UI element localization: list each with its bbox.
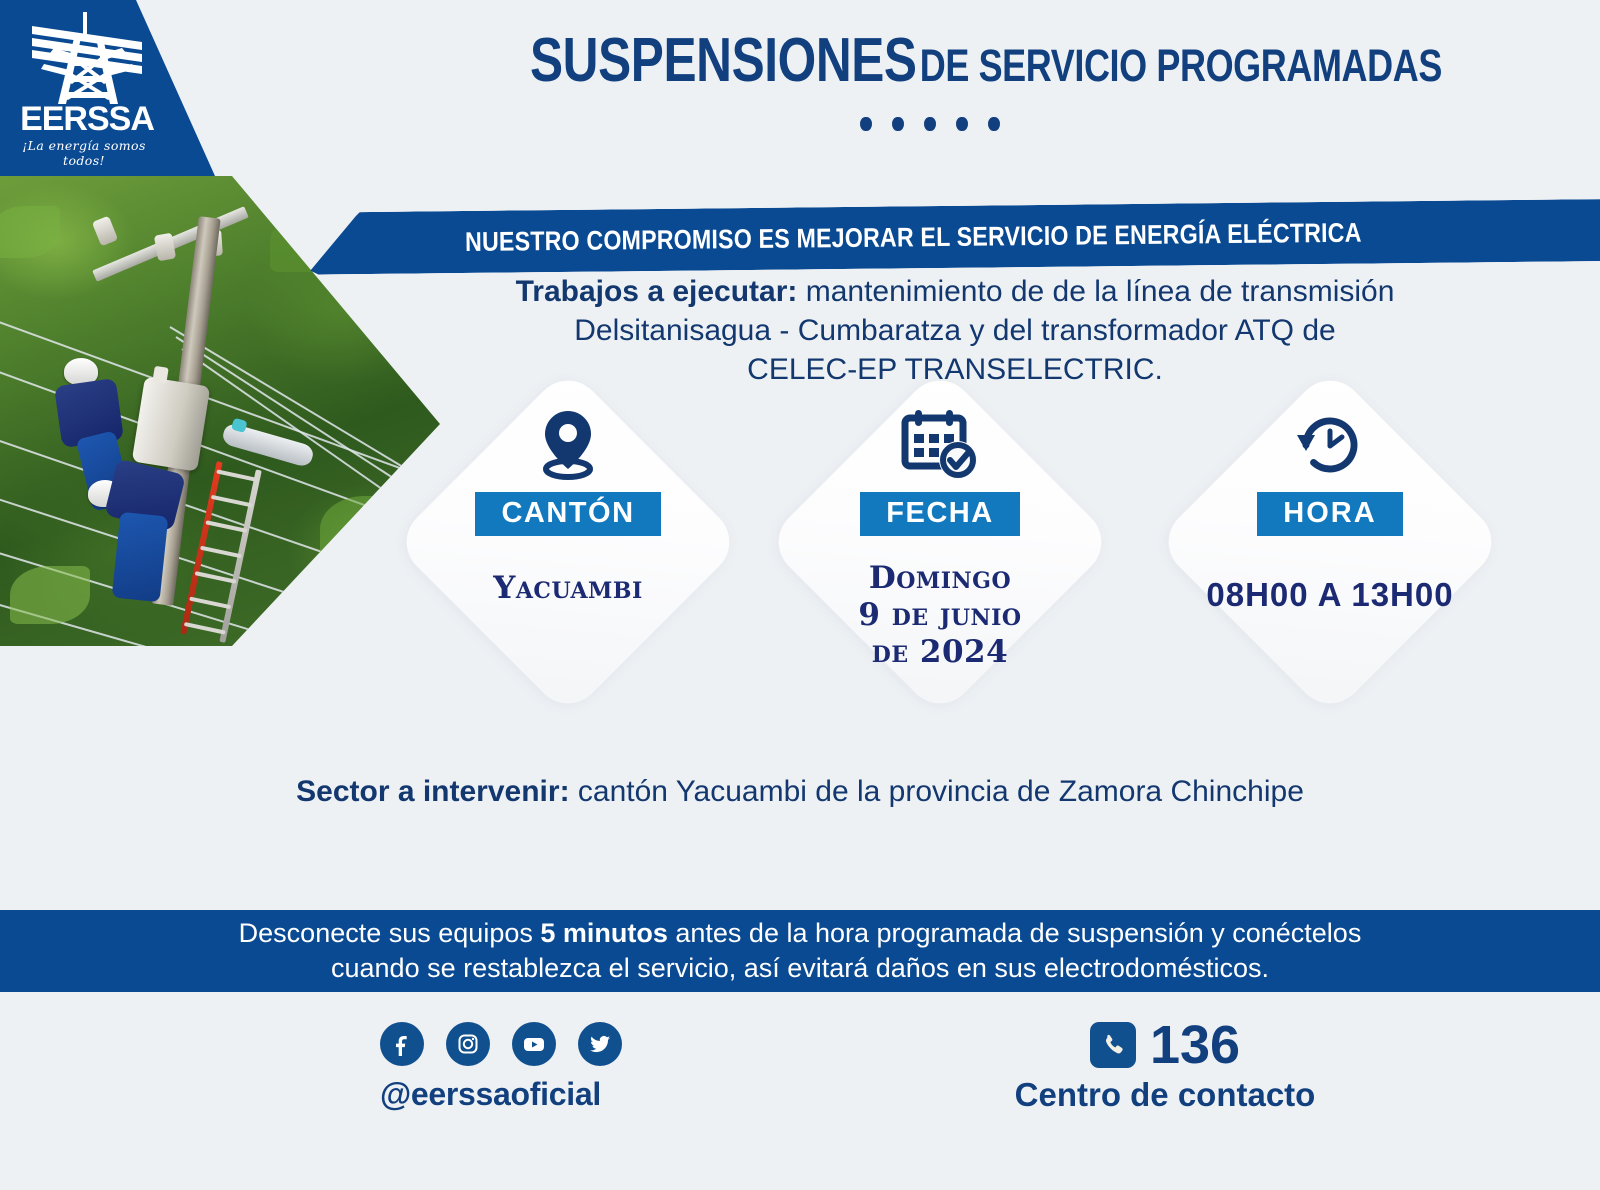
logo-tagline: ¡La energía somos todos! (14, 138, 154, 168)
dot-3 (924, 117, 936, 131)
notice-bar: Desconecte sus equipos 5 minutos antes d… (0, 910, 1600, 992)
phone-number: 136 (1150, 1018, 1240, 1072)
sector-label: Sector a intervenir: (296, 775, 569, 808)
card-fecha-value: Domingo 9 de junio de 2024 (858, 560, 1021, 671)
facebook-icon[interactable] (380, 1022, 424, 1066)
card-fecha-badge: FECHA (860, 492, 1019, 536)
social-links: @eerssaoficial (380, 1022, 622, 1113)
twitter-icon[interactable] (578, 1022, 622, 1066)
card-canton-value: Yacuambi (493, 570, 643, 607)
footer-bar: @eerssaoficial 136 Centro de contacto (0, 1000, 1600, 1190)
commitment-banner: NUESTRO COMPROMISO ES MEJORAR EL SERVICI… (310, 199, 1600, 275)
clock-rotate-icon (1292, 408, 1368, 482)
work-description: Trabajos a ejecutar: mantenimiento de de… (440, 272, 1470, 389)
card-fecha: FECHA Domingo 9 de junio de 2024 (770, 372, 1110, 712)
work-description-label: Trabajos a ejecutar: (516, 275, 798, 308)
map-pin-icon (537, 408, 599, 482)
notice-line1a: Desconecte sus equipos (239, 918, 541, 948)
contact-center-label: Centro de contacto (1000, 1076, 1330, 1114)
calendar-check-icon (901, 408, 979, 482)
work-description-line3: CELEC-EP TRANSELECTRIC. (747, 353, 1163, 386)
card-canton-badge: CANTÓN (475, 492, 660, 536)
poster-root: EERSSA ¡La energía somos todos! SUSPENSI… (0, 0, 1600, 1190)
dot-4 (956, 117, 968, 131)
eerssa-tower-logo: EERSSA (14, 8, 160, 143)
contact-center: 136 Centro de contacto (1000, 1018, 1330, 1114)
phone-icon (1090, 1022, 1136, 1068)
page-title-rest: DE SERVICIO PROGRAMADAS (920, 40, 1442, 91)
commitment-banner-text: NUESTRO COMPROMISO ES MEJORAR EL SERVICI… (465, 217, 1362, 257)
work-description-line1: mantenimiento de de la línea de transmis… (797, 275, 1394, 308)
notice-text: Desconecte sus equipos 5 minutos antes d… (70, 916, 1530, 986)
dot-1 (860, 117, 872, 131)
card-hora: HORA 08H00 A 13H00 (1160, 372, 1500, 712)
title-dots-decoration (430, 117, 1430, 131)
dot-5 (988, 117, 1000, 131)
social-handle: @eerssaoficial (380, 1076, 622, 1113)
sector-value: cantón Yacuambi de la provincia de Zamor… (570, 775, 1304, 808)
card-canton: CANTÓN Yacuambi (398, 372, 738, 712)
dot-2 (892, 117, 904, 131)
notice-highlight: 5 minutos (540, 918, 668, 948)
youtube-icon[interactable] (512, 1022, 556, 1066)
instagram-icon[interactable] (446, 1022, 490, 1066)
page-title: SUSPENSIONES DE SERVICIO PROGRAMADAS (530, 30, 1330, 97)
work-description-line2: Delsitanisagua - Cumbaratza y del transf… (574, 314, 1335, 347)
card-hora-badge: HORA (1257, 492, 1402, 536)
notice-line2: cuando se restablezca el servicio, así e… (331, 953, 1269, 983)
notice-line1c: antes de la hora programada de suspensió… (668, 918, 1361, 948)
svg-text:EERSSA: EERSSA (20, 100, 154, 138)
card-fecha-value-line3: de 2024 (858, 634, 1021, 671)
sector-line: Sector a intervenir: cantón Yacuambi de … (100, 775, 1500, 809)
info-cards: CANTÓN Yacuambi (370, 372, 1550, 722)
card-fecha-value-line1: Domingo (858, 560, 1021, 597)
eerssa-logo-panel: EERSSA ¡La energía somos todos! (0, 0, 215, 176)
page-title-strong: SUSPENSIONES (530, 26, 917, 95)
card-hora-value: 08H00 A 13H00 (1206, 576, 1453, 613)
page-header: SUSPENSIONES DE SERVICIO PROGRAMADAS (430, 30, 1430, 170)
card-fecha-value-line2: 9 de junio (858, 597, 1021, 634)
